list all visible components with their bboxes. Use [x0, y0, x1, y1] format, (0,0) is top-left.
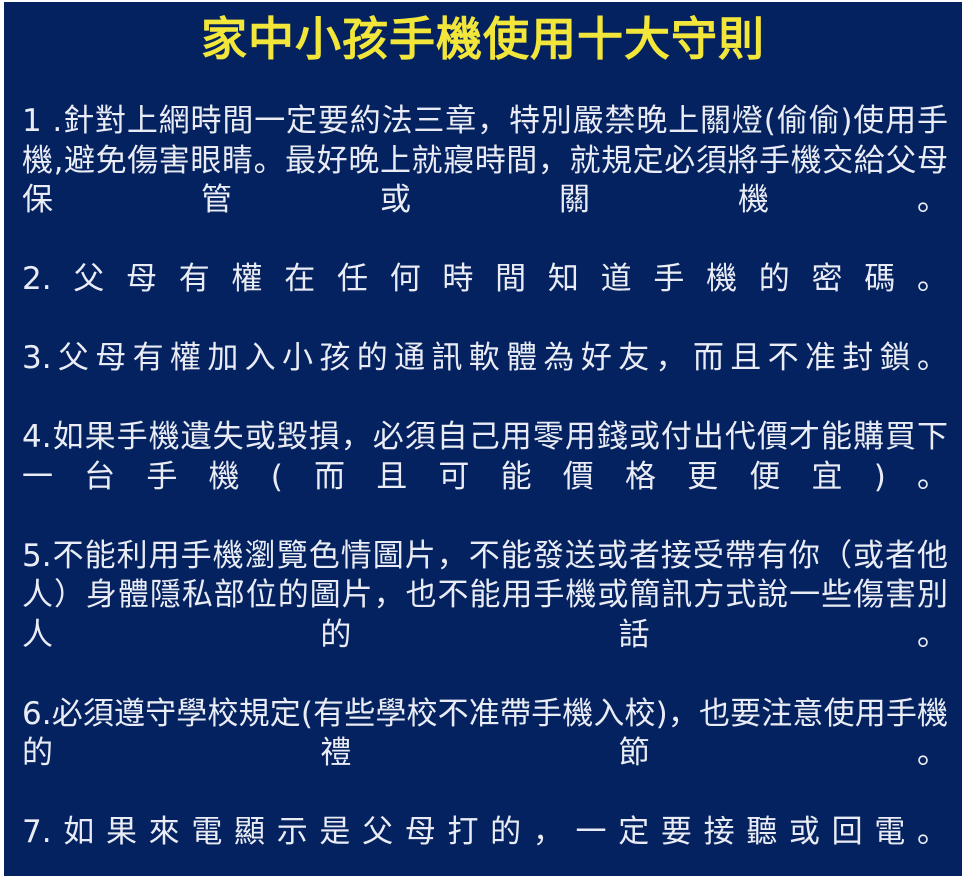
poster-panel: 家中小孩手機使用十大守則 1 .針對上網時間一定要約法三章，特別嚴禁晚上關燈(偷…	[4, 2, 962, 876]
rule-item-2: 2.父母有權在任何時間知道手機的密碼。	[22, 260, 948, 339]
poster-slide: 家中小孩手機使用十大守則 1 .針對上網時間一定要約法三章，特別嚴禁晚上關燈(偷…	[0, 0, 962, 889]
rule-item-6: 6.必須遵守學校規定(有些學校不准帶手機入校)，也要注意使用手機的禮節。	[22, 695, 948, 814]
left-page-margin	[0, 0, 4, 889]
rule-item-7: 7.如果來電顯示是父母打的，一定要接聽或回電。	[22, 813, 948, 876]
bottom-page-margin	[0, 876, 962, 889]
rule-item-3: 3.父母有權加入小孩的通訊軟體為好友，而且不准封鎖。	[22, 339, 948, 418]
rule-item-4: 4.如果手機遺失或毀損，必須自己用零用錢或付出代價才能購買下一台手機(而且可能價…	[22, 418, 948, 537]
rules-list: 1 .針對上網時間一定要約法三章，特別嚴禁晚上關燈(偷偷)使用手機,避免傷害眼睛…	[22, 102, 948, 876]
page-title: 家中小孩手機使用十大守則	[4, 14, 962, 64]
rule-item-1: 1 .針對上網時間一定要約法三章，特別嚴禁晚上關燈(偷偷)使用手機,避免傷害眼睛…	[22, 102, 948, 260]
rule-item-5: 5.不能利用手機瀏覽色情圖片，不能發送或者接受帶有你（或者他人）身體隱私部位的圖…	[22, 537, 948, 695]
